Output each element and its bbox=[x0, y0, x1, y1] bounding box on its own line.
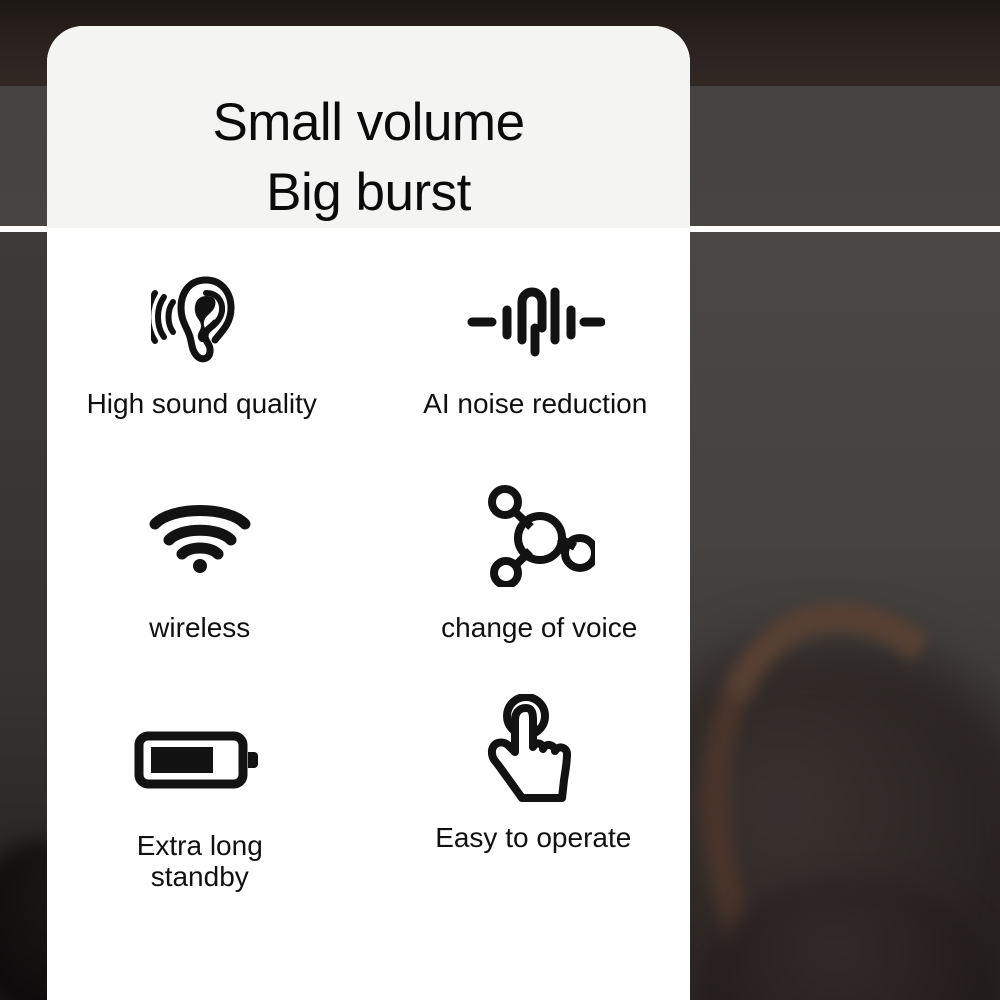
feature-label: Extra long standby bbox=[137, 830, 263, 893]
feature-label: wireless bbox=[149, 612, 250, 643]
wifi-icon bbox=[147, 482, 253, 590]
feature-label: change of voice bbox=[441, 612, 637, 643]
feature-label: Easy to operate bbox=[435, 822, 631, 853]
ear-sound-icon bbox=[151, 266, 255, 374]
feature-extra-long-standby: Extra long standby bbox=[47, 694, 369, 924]
page-title: Small volume Big burst bbox=[47, 88, 690, 229]
feature-ai-noise-reduction: AI noise reduction bbox=[369, 258, 691, 476]
feature-label: High sound quality bbox=[87, 388, 317, 419]
tap-hand-icon bbox=[482, 698, 586, 806]
feature-label: AI noise reduction bbox=[423, 388, 647, 419]
feature-card: Small volume Big burst bbox=[47, 26, 690, 1000]
molecule-node-icon bbox=[483, 482, 595, 590]
feature-grid: High sound quality bbox=[47, 258, 690, 924]
battery-icon bbox=[134, 706, 262, 814]
feature-wireless: wireless bbox=[47, 476, 369, 694]
feature-change-of-voice: change of voice bbox=[369, 476, 691, 694]
feature-easy-to-operate: Easy to operate bbox=[369, 694, 691, 924]
feature-high-sound-quality: High sound quality bbox=[47, 258, 369, 476]
product-feature-screenshot: Small volume Big burst bbox=[0, 0, 1000, 1000]
audio-waveform-icon bbox=[465, 268, 605, 376]
headline-line-1: Small volume bbox=[212, 93, 524, 152]
headline-line-2: Big burst bbox=[47, 158, 690, 228]
